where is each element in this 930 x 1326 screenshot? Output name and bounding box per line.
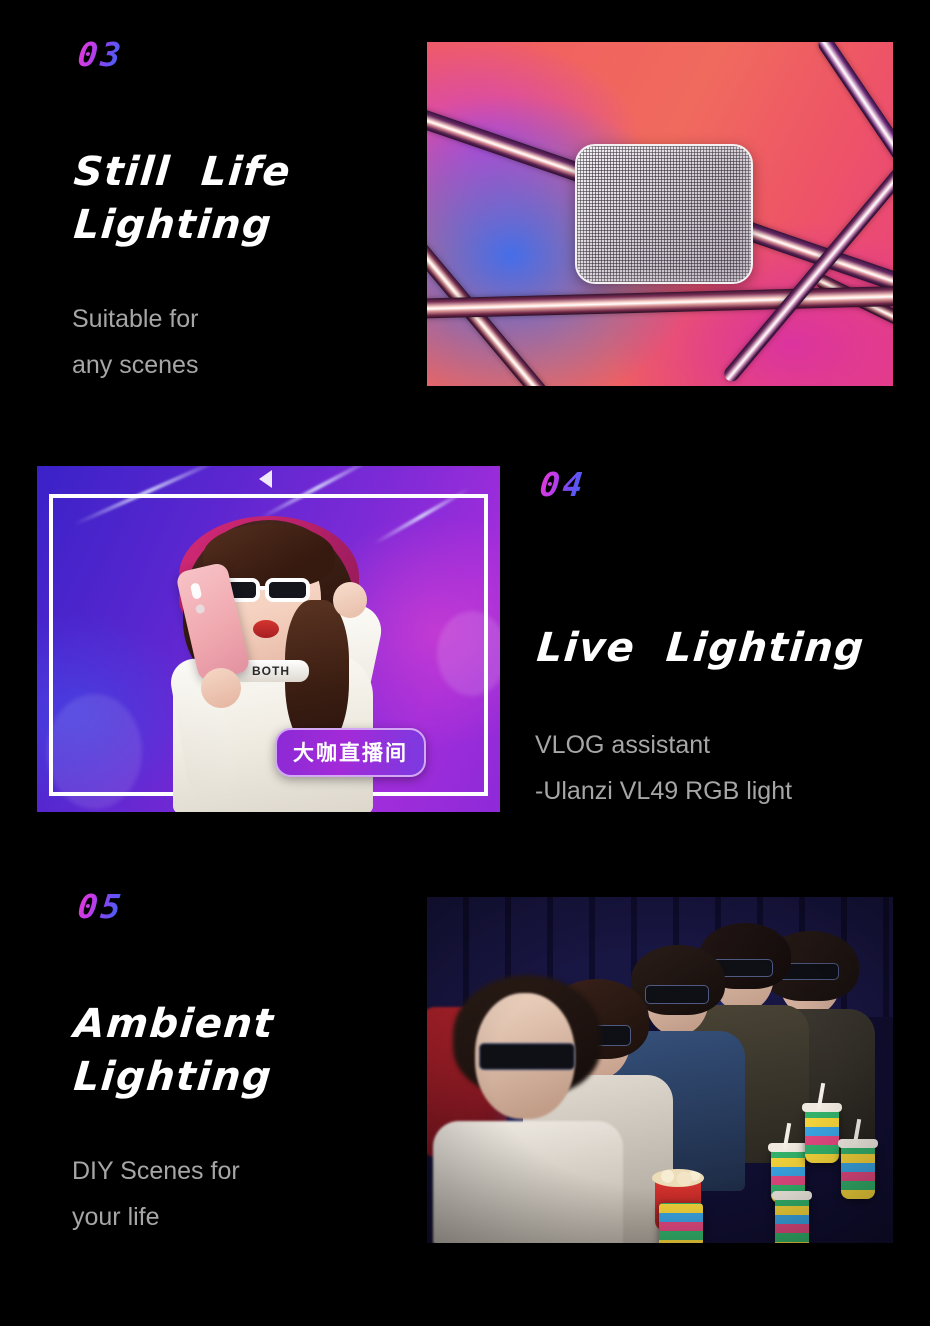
section-subtitle-still-life: Suitable for any scenes xyxy=(72,296,402,389)
section-title-ambient: Ambient Lighting xyxy=(74,998,414,1104)
host-lips xyxy=(253,620,279,638)
play-triangle-icon xyxy=(259,470,272,488)
section-subtitle-live: VLOG assistant -Ulanzi VL49 RGB light xyxy=(535,722,930,815)
phone-sensor xyxy=(195,604,206,615)
rgb-light-panel xyxy=(575,144,753,284)
section-number-03: 03 xyxy=(78,38,124,71)
live-lighting-photo: BOTH 大咖直播间 xyxy=(37,466,500,812)
section-number-05: 05 xyxy=(78,890,124,923)
host-hand-raised xyxy=(333,582,367,618)
phone-camera xyxy=(190,582,202,600)
section-title-live: Live Lighting xyxy=(537,622,917,675)
photo-vignette xyxy=(427,897,893,1243)
section-number-04: 04 xyxy=(540,468,586,501)
ambient-lighting-photo xyxy=(427,897,893,1243)
host-hand-holding-phone xyxy=(201,668,241,708)
still-life-lighting-photo xyxy=(427,42,893,386)
section-subtitle-ambient: DIY Scenes for your life xyxy=(72,1148,412,1241)
sunglasses-lens-right xyxy=(265,578,310,602)
live-room-badge: 大咖直播间 xyxy=(275,728,426,777)
section-title-still-life: Still Life Lighting xyxy=(74,146,404,252)
